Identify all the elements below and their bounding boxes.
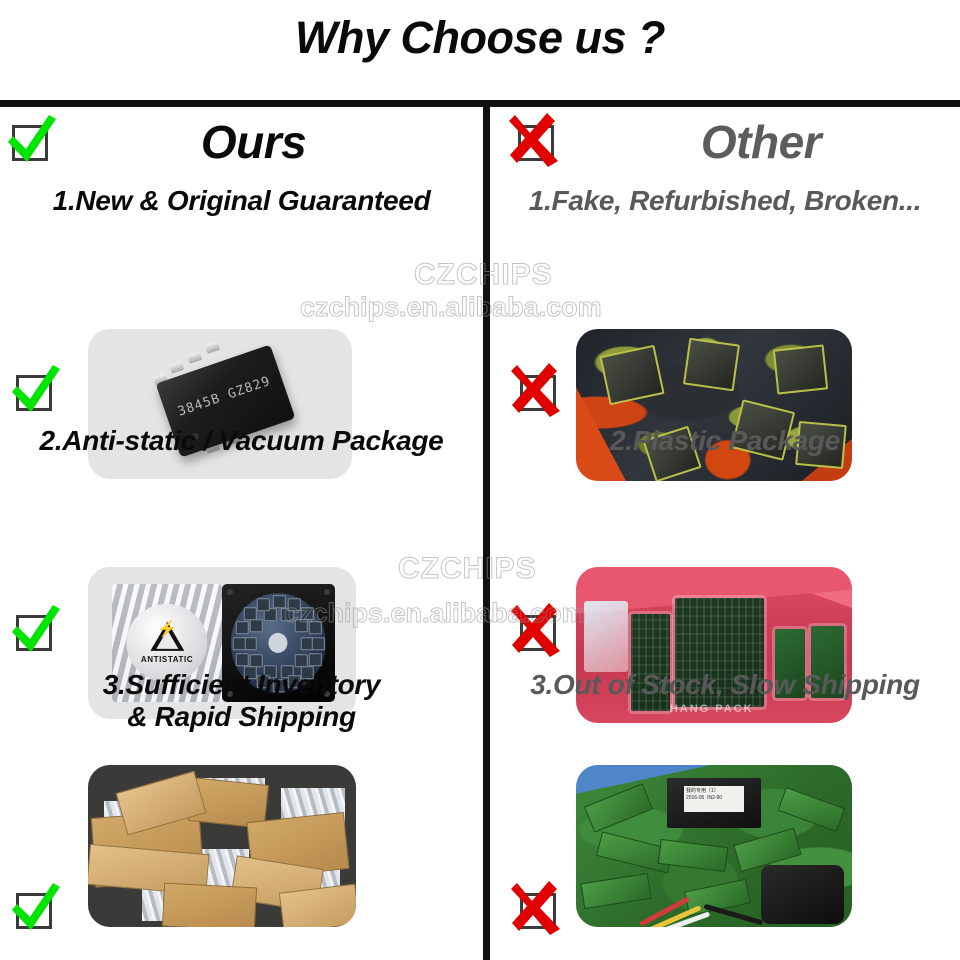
cross-icon <box>514 609 560 655</box>
item-title: 3.Sufficient Inventory & Rapid Shipping <box>0 669 483 733</box>
reel-pocket <box>236 621 249 634</box>
item-title: 1.New & Original Guaranteed <box>0 185 483 217</box>
reel-pocket <box>244 637 257 650</box>
item-title: 1.Fake, Refurbished, Broken... <box>490 185 960 217</box>
column-other: Other 1.Fake, Refurbished, Broken... 2.P… <box>490 107 960 960</box>
item-title: 2.Anti-static / Vacuum Package <box>0 425 483 457</box>
page-title: Why Choose us ? <box>0 12 960 64</box>
column-heading-other: Other <box>490 115 960 169</box>
reel-pocket <box>272 595 285 608</box>
cardboard-boxes-photo <box>88 765 356 927</box>
cross-icon <box>514 887 560 933</box>
item-title: 2.Plastic Package <box>490 425 960 457</box>
header-divider <box>0 100 960 107</box>
column-ours: Ours 1.New & Original Guaranteed 3845B G… <box>0 107 483 960</box>
reel-pocket <box>236 653 249 666</box>
reel-pocket <box>300 607 313 620</box>
reel-pocket <box>249 619 262 632</box>
reel-pocket <box>257 598 270 611</box>
pack-watermark: HANG PACK <box>670 703 754 715</box>
item-title: 3.Out of Stock, Slow Shipping <box>490 669 960 701</box>
reel-pocket <box>244 607 257 620</box>
green-board-scrap-photo: 我的专用（1）2016-05 IN2-90 <box>576 765 852 927</box>
reel-pocket <box>312 637 325 650</box>
black-module: 我的专用（1）2016-05 IN2-90 <box>667 778 761 828</box>
check-icon <box>10 609 56 655</box>
high-voltage-warning-icon: ⚡ <box>150 622 184 651</box>
reel-pocket <box>309 621 322 634</box>
reel-pocket <box>287 598 300 611</box>
reel-pocket <box>233 637 246 650</box>
module-label: 我的专用（1）2016-05 IN2-90 <box>684 786 744 812</box>
check-icon <box>10 369 56 415</box>
reel-pocket <box>309 653 322 666</box>
column-heading-ours: Ours <box>0 115 495 169</box>
scrap-chips-photo <box>576 329 852 481</box>
cross-icon <box>514 369 560 415</box>
check-icon <box>10 887 56 933</box>
column-divider <box>483 107 490 960</box>
reel-pocket <box>295 619 308 632</box>
antistatic-label: ANTISTATIC <box>141 655 193 664</box>
